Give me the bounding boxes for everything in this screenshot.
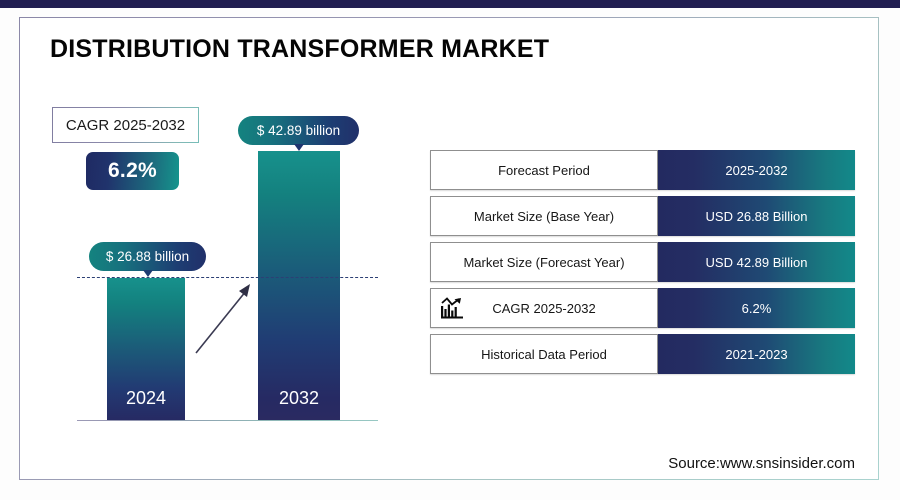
bar-chart: $ 42.89 billion $ 26.88 billion 2024 203… <box>60 100 400 430</box>
spec-label-cell: Forecast Period <box>430 150 658 190</box>
bar-value-pill-2024: $ 26.88 billion <box>89 242 206 271</box>
table-row: Market Size (Forecast Year) USD 42.89 Bi… <box>430 242 855 282</box>
spec-label-text: Market Size (Base Year) <box>474 209 614 224</box>
spec-value-cell: USD 26.88 Billion <box>658 196 855 236</box>
spec-label-text: Forecast Period <box>498 163 590 178</box>
spec-label-cell: Historical Data Period <box>430 334 658 374</box>
spec-value-cell: 6.2% <box>658 288 855 328</box>
spec-value-text: 2025-2032 <box>725 163 787 178</box>
bar-value-label-2032: $ 42.89 billion <box>257 123 340 138</box>
growth-arrow-icon <box>190 275 260 360</box>
pill-pointer-icon <box>294 144 304 151</box>
bar-category-label-2024: 2024 <box>107 388 185 409</box>
spec-value-text: 2021-2023 <box>725 347 787 362</box>
page-title: DISTRIBUTION TRANSFORMER MARKET <box>50 35 549 64</box>
bar-value-label-2024: $ 26.88 billion <box>106 249 189 264</box>
bar-2032: 2032 <box>258 151 340 420</box>
bar-value-pill-2032: $ 42.89 billion <box>238 116 359 145</box>
bar-2024: 2024 <box>107 278 185 420</box>
spec-value-text: USD 42.89 Billion <box>706 255 808 270</box>
infographic-canvas: DISTRIBUTION TRANSFORMER MARKET CAGR 202… <box>0 0 900 500</box>
source-attribution: Source:www.snsinsider.com <box>668 455 855 472</box>
spec-label-text: Historical Data Period <box>481 347 607 362</box>
spec-value-cell: 2021-2023 <box>658 334 855 374</box>
spec-label-text: CAGR 2025-2032 <box>492 301 595 316</box>
spec-label-cell: Market Size (Forecast Year) <box>430 242 658 282</box>
pill-pointer-icon <box>143 270 153 277</box>
spec-value-cell: 2025-2032 <box>658 150 855 190</box>
spec-value-cell: USD 42.89 Billion <box>658 242 855 282</box>
spec-label-cell: CAGR 2025-2032 <box>430 288 658 328</box>
spec-value-text: 6.2% <box>742 301 772 316</box>
spec-table: Forecast Period 2025-2032 Market Size (B… <box>430 150 855 380</box>
bar-chart-icon <box>439 296 465 320</box>
table-row: Forecast Period 2025-2032 <box>430 150 855 190</box>
spec-value-text: USD 26.88 Billion <box>706 209 808 224</box>
table-row: CAGR 2025-2032 6.2% <box>430 288 855 328</box>
table-row: Market Size (Base Year) USD 26.88 Billio… <box>430 196 855 236</box>
spec-label-text: Market Size (Forecast Year) <box>463 255 624 270</box>
spec-label-cell: Market Size (Base Year) <box>430 196 658 236</box>
top-accent-strip <box>0 0 900 8</box>
table-row: Historical Data Period 2021-2023 <box>430 334 855 374</box>
bar-category-label-2032: 2032 <box>258 388 340 409</box>
